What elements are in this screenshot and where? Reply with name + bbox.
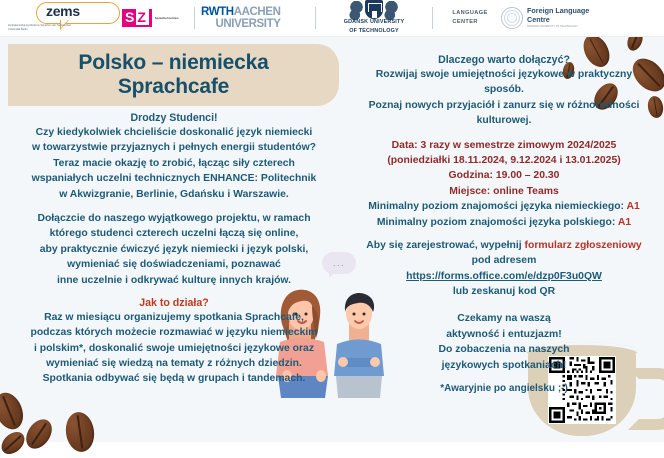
time-line: Godzina: 19.00 – 20.30 <box>346 168 662 183</box>
footnote-english: *Awaryjnie po angielsku ;-) <box>346 383 662 394</box>
flc-line2: Centre <box>527 16 589 24</box>
flc-line3: WARSAW UNIVERSITY OF TECHNOLOGY <box>527 26 589 29</box>
gdansk-line2: OF TECHNOLOGY <box>349 28 399 36</box>
logo-sz: SZ Sprachen lernen <box>122 0 188 36</box>
logo-divider-2 <box>315 7 316 29</box>
closing-paragraph: Czekamy na waszą aktywność i entuzjazm! … <box>346 311 662 373</box>
register-prefix: Aby się zarejestrować, wypełnij <box>366 240 524 251</box>
register-line: Aby się zarejestrować, wypełnij formular… <box>346 238 662 253</box>
level-polish-label: Minimalny poziom znajomości języka polsk… <box>377 217 618 228</box>
logo-language-center: LANGUAGE CENTER <box>439 0 501 36</box>
left-text-column: Drodzy Studenci! Czy kiedykolwiek chciel… <box>4 112 344 396</box>
level-german-value: A1 <box>627 201 640 212</box>
logo-divider-3 <box>432 7 433 29</box>
logo-divider-1 <box>194 7 195 29</box>
poster-title-panel: Polsko – niemiecka Sprachcafe <box>8 44 339 106</box>
level-polish-value: A1 <box>618 217 631 228</box>
partner-logo-bar: zems Zentraleinrichtung Moderne Sprachen… <box>0 0 664 37</box>
right-text-column: Dlaczego warto dołączyć? Rozwijaj swoje … <box>346 54 662 394</box>
why-join-paragraph: Rozwijaj swoje umiejętności językowe w p… <box>346 67 662 129</box>
registration-form-link[interactable]: https://forms.office.com/e/dzp0F3u0QW <box>406 271 602 282</box>
zems-subtitle: Zentraleinrichtung Moderne Sprachen der … <box>8 24 78 32</box>
page-title: Polsko – niemiecka Sprachcafe <box>78 51 268 98</box>
level-german-label: Minimalny poziom znajomości języka niemi… <box>368 201 626 212</box>
scan-qr-line: lub zeskanuj kod QR <box>346 284 662 299</box>
register-address-label: pod adresem <box>346 253 662 268</box>
register-form-emphasis: formularz zgłoszeniowy <box>525 240 642 251</box>
language-center-line2: CENTER <box>452 18 487 27</box>
registration-form-link-row: https://forms.office.com/e/dzp0F3u0QW <box>346 269 662 284</box>
rwth-university-word: UNIVERSITY <box>201 18 280 30</box>
coffee-bean-icon <box>21 415 57 454</box>
invite-paragraph: Dołączcie do naszego wyjątkowego projekt… <box>4 211 344 288</box>
greeting-heading: Drodzy Studenci! <box>4 112 344 124</box>
zems-wordmark: zems <box>46 3 80 19</box>
level-polish-line: Minimalny poziom znajomości języka polsk… <box>346 215 662 230</box>
logo-foreign-language-centre: Foreign Language Centre WARSAW UNIVERSIT… <box>501 0 607 36</box>
how-it-works-paragraph: Raz w miesiącu organizujemy spotkania Sp… <box>4 310 344 387</box>
place-line: Miejsce: online Teams <box>346 184 662 199</box>
gdansk-crest-icon <box>347 0 401 18</box>
date-line-1: Data: 3 razy w semestrze zimowym 2024/20… <box>346 138 662 153</box>
rwth-wordmark: RWTH <box>201 6 234 18</box>
coffee-bean-icon <box>0 428 29 458</box>
sz-subtitle: Sprachen lernen <box>155 16 179 20</box>
coffee-bean-icon <box>63 410 96 454</box>
logo-gdansk-tech: GDAŃSK UNIVERSITY OF TECHNOLOGY <box>322 0 426 36</box>
how-it-works-heading: Jak to działa? <box>4 297 344 309</box>
rwth-aachen-word: AACHEN <box>234 6 281 18</box>
date-line-2: (poniedziałki 18.11.2024, 9.12.2024 i 13… <box>346 153 662 168</box>
logo-rwth-aachen: RWTHAACHEN UNIVERSITY <box>201 0 309 36</box>
intro-paragraph: Czy kiedykolwiek chcieliście doskonalić … <box>4 125 344 202</box>
flc-emblem-icon <box>501 7 523 29</box>
poster-root: zems Zentraleinrichtung Moderne Sprachen… <box>0 0 664 442</box>
sz-wordmark: SZ <box>122 9 152 26</box>
level-german-line: Minimalny poziom znajomości języka niemi… <box>346 199 662 214</box>
why-join-heading: Dlaczego warto dołączyć? <box>346 54 662 66</box>
language-center-line1: LANGUAGE <box>452 9 487 18</box>
logo-zems: zems Zentraleinrichtung Moderne Sprachen… <box>4 0 122 36</box>
